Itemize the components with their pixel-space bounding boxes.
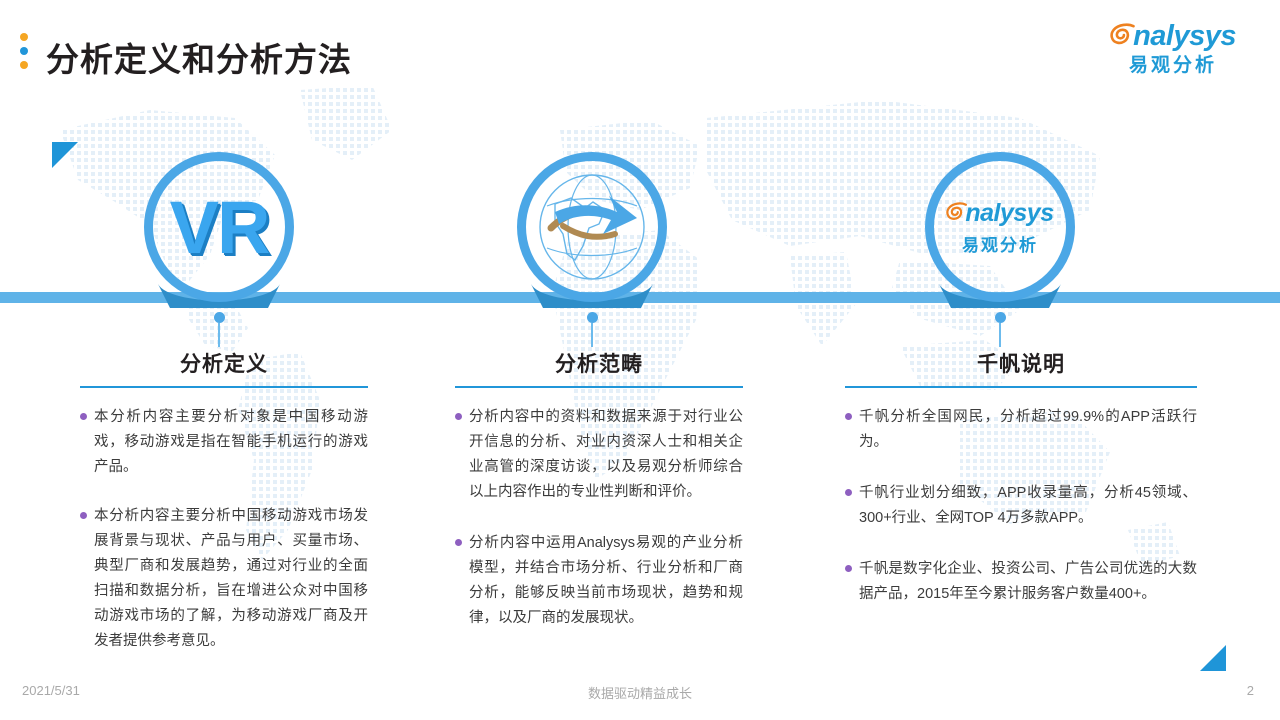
column-3-title: 千帆说明 <box>845 352 1197 377</box>
column-2-bullet-1: 分析内容中的资料和数据来源于对行业公开信息的分析、对业内资深人士和相关企业高管的… <box>455 405 743 505</box>
badge-logo-name: nalysys <box>965 199 1053 227</box>
column-3-bullet-2: 千帆行业划分细致，APP收录量高，分析45领域、300+行业、全网TOP 4万多… <box>845 481 1197 531</box>
pin-stem-2 <box>591 323 593 347</box>
column-3-bullet-1: 千帆分析全国网民，分析超过99.9%的APP活跃行为。 <box>845 405 1197 455</box>
analysys-swoosh-icon-small <box>946 202 968 224</box>
brand-logo-name: nalysys <box>1133 20 1236 52</box>
column-3-bullet-3: 千帆是数字化企业、投资公司、广告公司优选的大数据产品，2015年至今累计服务客户… <box>845 557 1197 607</box>
title-dot-3 <box>20 61 28 69</box>
pin-marker-1 <box>213 312 225 347</box>
column-3-bullet-3-text: 千帆是数字化企业、投资公司、广告公司优选的大数据产品，2015年至今累计服务客户… <box>859 557 1197 607</box>
column-2-bullet-2: 分析内容中运用Analysys易观的产业分析模型，并结合市场分析、行业分析和厂商… <box>455 531 743 631</box>
badge-logo-wordmark: nalysys <box>946 199 1053 228</box>
column-qianfan-description: 千帆说明 千帆分析全国网民，分析超过99.9%的APP活跃行为。 千帆行业划分细… <box>845 352 1197 607</box>
column-1-title: 分析定义 <box>80 352 368 377</box>
badge-vr: VR <box>144 152 294 302</box>
column-1-rule <box>80 386 368 388</box>
brand-logo: nalysys 易观分析 <box>1110 22 1236 75</box>
bullet-dot-icon <box>455 413 462 420</box>
globe-arrow-icon <box>533 168 651 286</box>
triangle-top-left-decoration <box>52 142 78 168</box>
bullet-dot-icon <box>80 512 87 519</box>
title-dots-decoration <box>20 33 30 77</box>
pin-marker-2 <box>586 312 598 347</box>
analysys-swoosh-icon <box>1110 23 1136 49</box>
pin-marker-3 <box>994 312 1006 347</box>
badge-vr-label: VR <box>144 152 294 302</box>
pin-stem-3 <box>999 323 1001 347</box>
badge-globe <box>517 152 667 302</box>
badge-analysys: nalysys 易观分析 <box>925 152 1075 302</box>
column-analysis-scope: 分析范畴 分析内容中的资料和数据来源于对行业公开信息的分析、对业内资深人士和相关… <box>455 352 743 631</box>
bullet-dot-icon <box>455 539 462 546</box>
page-title: 分析定义和分析方法 <box>46 33 352 81</box>
slide-root: 分析定义和分析方法 nalysys 易观分析 VR <box>0 0 1280 720</box>
column-3-bullet-2-text: 千帆行业划分细致，APP收录量高，分析45领域、300+行业、全网TOP 4万多… <box>859 481 1197 531</box>
column-1-bullet-1-text: 本分析内容主要分析对象是中国移动游戏，移动游戏是指在智能手机运行的游戏产品。 <box>94 405 368 480</box>
column-3-bullet-1-text: 千帆分析全国网民，分析超过99.9%的APP活跃行为。 <box>859 405 1197 455</box>
badge-analysys-logo: nalysys 易观分析 <box>925 152 1075 302</box>
pin-stem-1 <box>218 323 220 347</box>
title-dot-1 <box>20 33 28 41</box>
column-2-bullet-1-text: 分析内容中的资料和数据来源于对行业公开信息的分析、对业内资深人士和相关企业高管的… <box>469 405 743 505</box>
triangle-bottom-right-decoration <box>1200 645 1226 671</box>
column-2-title: 分析范畴 <box>455 352 743 377</box>
column-1-bullet-2: 本分析内容主要分析中国移动游戏市场发展背景与现状、产品与用户、买量市场、典型厂商… <box>80 504 368 654</box>
brand-logo-wordmark: nalysys <box>1110 22 1236 51</box>
slide-footer: 2021/5/31 数据驱动精益成长 2 <box>0 683 1280 707</box>
column-1-bullet-2-text: 本分析内容主要分析中国移动游戏市场发展背景与现状、产品与用户、买量市场、典型厂商… <box>94 504 368 654</box>
column-2-bullet-2-text: 分析内容中运用Analysys易观的产业分析模型，并结合市场分析、行业分析和厂商… <box>469 531 743 631</box>
column-1-bullet-1: 本分析内容主要分析对象是中国移动游戏，移动游戏是指在智能手机运行的游戏产品。 <box>80 405 368 480</box>
bullet-dot-icon <box>845 413 852 420</box>
column-3-rule <box>845 386 1197 388</box>
bullet-dot-icon <box>845 489 852 496</box>
column-analysis-definition: 分析定义 本分析内容主要分析对象是中国移动游戏，移动游戏是指在智能手机运行的游戏… <box>80 352 368 654</box>
pin-head-3 <box>995 312 1006 323</box>
column-2-rule <box>455 386 743 388</box>
footer-slogan: 数据驱动精益成长 <box>0 683 1280 702</box>
badge-logo-cn: 易观分析 <box>962 231 1038 256</box>
pin-head-1 <box>214 312 225 323</box>
bullet-dot-icon <box>845 565 852 572</box>
pin-head-2 <box>587 312 598 323</box>
footer-page-number: 2 <box>1247 683 1254 698</box>
slide-header: 分析定义和分析方法 <box>0 0 1280 100</box>
bullet-dot-icon <box>80 413 87 420</box>
brand-logo-cn: 易观分析 <box>1110 56 1236 75</box>
title-dot-2 <box>20 47 28 55</box>
